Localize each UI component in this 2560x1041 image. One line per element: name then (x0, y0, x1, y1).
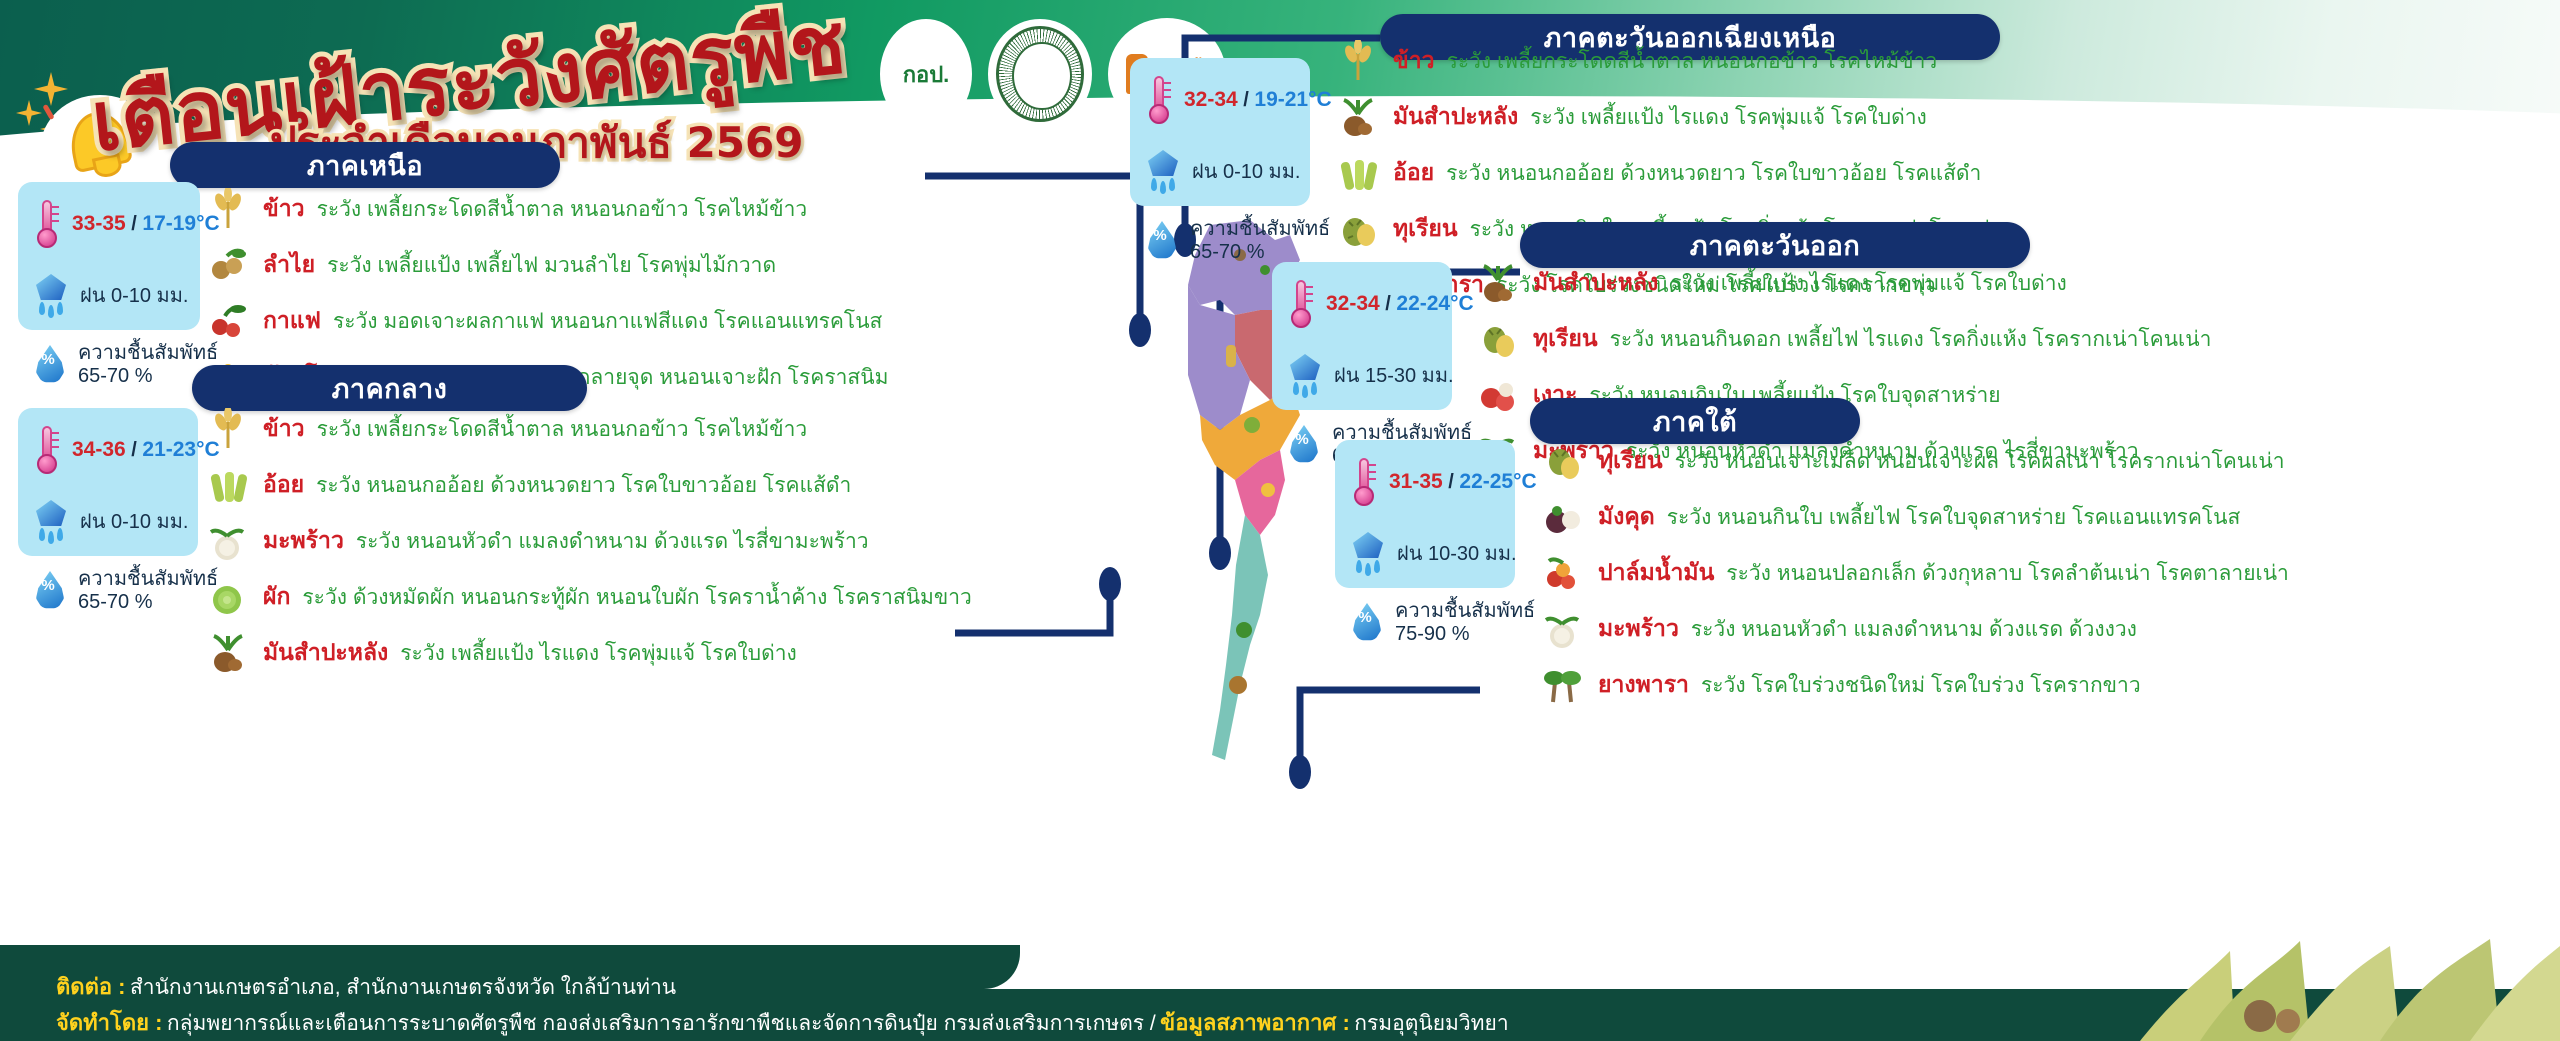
crop-row: มันสำปะหลัง ระวัง เพลี้ยแป้ง ไรแดง โรคพุ… (1335, 96, 2003, 138)
footer-producer-key: จัดทำโดย : (56, 1010, 162, 1035)
rain-cloud-icon (34, 272, 68, 320)
royal-seal-icon (996, 26, 1084, 122)
humidity-drop-icon: % (1146, 219, 1178, 263)
sugarcane-icon (205, 464, 251, 506)
rain-cloud-icon (1351, 530, 1385, 578)
humidity-row-northeast: % ความชื้นสัมพัทธ์ 65-70 % (1146, 218, 1292, 264)
humidity-value-south: 75-90 % (1395, 623, 1470, 645)
thermometer-icon (1351, 456, 1377, 508)
crop-row: มันสำปะหลัง ระวัง เพลี้ยแป้ง ไรแดง โรคพุ… (205, 632, 972, 674)
crop-row: ลำไย ระวัง เพลี้ยแป้ง เพลี้ยไฟ มวนลำไย โ… (205, 244, 888, 286)
temp-separator: / (1385, 293, 1391, 315)
crop-row: อ้อย ระวัง หนอนกออ้อย ด้วงหนวดยาว โรคใบข… (1335, 152, 2003, 194)
cassava-icon (1335, 96, 1381, 138)
rain-cloud-icon (1288, 352, 1322, 400)
crop-name: ยางพารา (1598, 667, 1689, 703)
crop-name: มันสำปะหลัง (263, 635, 388, 671)
kop-logo: กอป. (880, 19, 972, 129)
rice-icon (205, 188, 251, 230)
crop-row: ผัก ระวัง ด้วงหมัดผัก หนอนกระทู้ผัก หนอน… (205, 576, 972, 618)
crop-row: ปาล์มน้ำมัน ระวัง หนอนปลอกเล็ก ด้วงกุหลา… (1540, 552, 2289, 594)
humidity-label-south: ความชื้นสัมพัทธ์ (1395, 600, 1535, 622)
footer-contact-line: ติดต่อ : สำนักงานเกษตรอำเภอ, สำนักงานเกษ… (56, 969, 676, 1004)
thermometer-icon (34, 424, 60, 476)
crop-warning: ระวัง เพลี้ยแป้ง ไรแดง โรคพุ่มแจ้ โรคใบด… (400, 637, 797, 670)
crop-warning: ระวัง หนอนกออ้อย ด้วงหนวดยาว โรคใบขาวอ้อ… (1446, 157, 1981, 190)
humidity-label-northeast: ความชื้นสัมพัทธ์ (1190, 218, 1330, 240)
crop-name: ปาล์มน้ำมัน (1598, 555, 1714, 591)
crop-warning: ระวัง เพลี้ยแป้ง เพลี้ยไฟ มวนลำไย โรคพุ่… (327, 249, 776, 282)
temp-separator: / (131, 439, 137, 461)
rambutan-icon (1475, 374, 1521, 416)
oilpalm-icon (1540, 552, 1586, 594)
crop-warning: ระวัง หนอนหัวดำ แมลงดำหนาม ด้วงแรด ไรสี่… (356, 525, 869, 558)
crop-name: ทุเรียน (1533, 321, 1598, 357)
crop-warning: ระวัง เพลี้ยกระโดดสีน้ำตาล หนอนกอข้าว โร… (317, 193, 808, 226)
temperature-text-south: 31-35 / 22-25°C (1389, 470, 1537, 494)
footer-producer-line: จัดทำโดย : กลุ่มพยากรณ์และเตือนการระบาดศ… (56, 1005, 1509, 1040)
region-header-north: ภาคเหนือ (170, 142, 560, 188)
weather-card-east: 32-34 / 22-24°C ฝน 15-30 มม. % ความชื้นส… (1272, 262, 1452, 410)
sparkle-icon (16, 100, 42, 126)
rice-icon (205, 408, 251, 450)
footer-contact-key: ติดต่อ : (56, 974, 126, 999)
thermometer-icon (1288, 278, 1314, 330)
crop-row: มันสำปะหลัง ระวัง เพลี้ยแป้ง ไรแดง โรคพุ… (1475, 262, 2211, 304)
crop-name: อ้อย (1393, 155, 1434, 191)
humidity-label-central: ความชื้นสัมพัทธ์ (78, 568, 218, 590)
crop-name: ทุเรียน (1598, 443, 1663, 479)
temp-high-east: 32-34 (1326, 292, 1380, 315)
rain-text-north: ฝน 0-10 มม. (80, 285, 188, 308)
temp-low-northeast: 19-21°C (1254, 88, 1331, 111)
temperature-text-central: 34-36 / 21-23°C (72, 438, 220, 462)
cassava-icon (1475, 262, 1521, 304)
crop-row: ทุเรียน ระวัง หนอนกินดอก เพลี้ยไฟ ไรแดง … (1475, 318, 2211, 360)
royal-seal-logo (988, 19, 1092, 129)
temperature-row-south: 31-35 / 22-25°C (1351, 456, 1497, 508)
crop-warning: ระวัง มอดเจาะผลกาแฟ หนอนกาแฟสีแดง โรคแอน… (333, 305, 882, 338)
crop-warning: ระวัง หนอนปลอกเล็ก ด้วงกุหลาบ โรคลำต้นเน… (1726, 557, 2289, 590)
temperature-row-north: 33-35 / 17-19°C (34, 198, 182, 250)
rain-row-northeast: ฝน 0-10 มม. (1146, 148, 1292, 196)
humidity-drop-icon: % (34, 343, 66, 387)
temp-low-east: 22-24°C (1396, 292, 1473, 315)
region-title-central: ภาคกลาง (332, 367, 448, 410)
temp-separator: / (1243, 89, 1249, 111)
humidity-value-northeast: 65-70 % (1190, 241, 1265, 263)
crop-warning: ระวัง หนอนเจาะเมล็ด หนอนเจาะผล โรคผลเน่า… (1675, 445, 2285, 478)
humidity-percent-glyph: % (34, 577, 62, 594)
crop-name: มันสำปะหลัง (1393, 99, 1518, 135)
crop-list-south: ทุเรียน ระวัง หนอนเจาะเมล็ด หนอนเจาะผล โ… (1540, 440, 2289, 706)
rain-cloud-icon (1146, 148, 1180, 196)
crop-row: อ้อย ระวัง หนอนกออ้อย ด้วงหนวดยาว โรคใบข… (205, 464, 972, 506)
crop-warning: ระวัง เพลี้ยแป้ง ไรแดง โรคพุ่มแจ้ โรคใบด… (1530, 101, 1927, 134)
humidity-text-northeast: ความชื้นสัมพัทธ์ 65-70 % (1190, 218, 1330, 264)
crop-row: ข้าว ระวัง เพลี้ยกระโดดสีน้ำตาล หนอนกอข้… (1335, 40, 2003, 82)
crop-warning: ระวัง เพลี้ยกระโดดสีน้ำตาล หนอนกอข้าว โร… (1447, 45, 1938, 78)
crop-name: กาแฟ (263, 303, 321, 339)
crop-name: มันสำปะหลัง (1533, 265, 1658, 301)
crop-warning: ระวัง หนอนกออ้อย ด้วงหนวดยาว โรคใบขาวอ้อ… (316, 469, 851, 502)
crop-warning: ระวัง โรคใบร่วงชนิดใหม่ โรคใบร่วง โรคราก… (1701, 669, 2141, 702)
coconut-icon (1540, 608, 1586, 650)
crop-name: ผัก (263, 579, 290, 615)
humidity-drop-icon: % (1351, 601, 1383, 645)
temperature-row-central: 34-36 / 21-23°C (34, 424, 180, 476)
region-header-south: ภาคใต้ (1530, 398, 1860, 444)
cassava-icon (205, 632, 251, 674)
humidity-text-south: ความชื้นสัมพัทธ์ 75-90 % (1395, 600, 1535, 646)
crop-warning: ระวัง เพลี้ยกระโดดสีน้ำตาล หนอนกอข้าว โร… (317, 413, 808, 446)
thermometer-icon (34, 198, 60, 250)
footer-weather-value: กรมอุตุนิยมวิทยา (1354, 1012, 1508, 1035)
coconut-icon (205, 520, 251, 562)
temp-separator: / (131, 213, 137, 235)
rain-text-east: ฝน 15-30 มม. (1334, 365, 1454, 388)
durian-icon (1335, 208, 1381, 250)
crop-name: ข้าว (263, 191, 305, 227)
vegetable-icon (205, 576, 251, 618)
region-title-east: ภาคตะวันออก (1690, 224, 1860, 267)
crop-name: อ้อย (263, 467, 304, 503)
crop-row: มะพร้าว ระวัง หนอนหัวดำ แมลงดำหนาม ด้วงแ… (205, 520, 972, 562)
rain-text-central: ฝน 0-10 มม. (80, 511, 188, 534)
humidity-row-north: % ความชื้นสัมพัทธ์ 65-70 % (34, 342, 182, 388)
infographic-root: เตือนเฝ้าระวังศัตรูพืช ประจำเดือนกุมภาพั… (0, 0, 2560, 1041)
rain-row-east: ฝน 15-30 มม. (1288, 352, 1434, 400)
crop-name: ทุเรียน (1393, 211, 1458, 247)
region-title-south: ภาคใต้ (1653, 400, 1737, 443)
crop-name: มะพร้าว (263, 523, 344, 559)
crop-warning: ระวัง ด้วงหมัดผัก หนอนกระทู้ผัก หนอนใบผั… (302, 581, 971, 614)
temperature-row-east: 32-34 / 22-24°C (1288, 278, 1434, 330)
crop-row: ข้าว ระวัง เพลี้ยกระโดดสีน้ำตาล หนอนกอข้… (205, 188, 888, 230)
weather-card-south: 31-35 / 22-25°C ฝน 10-30 มม. % ความชื้นส… (1335, 440, 1515, 588)
humidity-drop-icon: % (34, 569, 66, 613)
rain-text-northeast: ฝน 0-10 มม. (1192, 161, 1300, 184)
temp-high-northeast: 32-34 (1184, 88, 1238, 111)
crop-row: มังคุด ระวัง หนอนกินใบ เพลี้ยไฟ โรคใบจุด… (1540, 496, 2289, 538)
temp-high-south: 31-35 (1389, 470, 1443, 493)
rice-icon (1335, 40, 1381, 82)
crop-row: ยางพารา ระวัง โรคใบร่วงชนิดใหม่ โรคใบร่ว… (1540, 664, 2289, 706)
footer-producer-value: กลุ่มพยากรณ์และเตือนการระบาดศัตรูพืช กอง… (167, 1012, 1156, 1035)
longan-icon (205, 244, 251, 286)
weather-card-north: 33-35 / 17-19°C ฝน 0-10 มม. % ความชื้นสั… (18, 182, 200, 330)
crop-name: ลำไย (263, 247, 315, 283)
durian-icon (1540, 440, 1586, 482)
temperature-text-northeast: 32-34 / 19-21°C (1184, 88, 1332, 112)
sparkle-icon (34, 72, 68, 106)
region-header-central: ภาคกลาง (192, 365, 587, 411)
crop-warning: ระวัง หนอนหัวดำ แมลงดำหนาม ด้วงแรด ด้วงง… (1691, 613, 2137, 646)
sugarcane-icon (1335, 152, 1381, 194)
mangosteen-icon (1540, 496, 1586, 538)
rubber-icon (1540, 664, 1586, 706)
crop-name: ข้าว (263, 411, 305, 447)
temp-low-south: 22-25°C (1459, 470, 1536, 493)
coffee-icon (205, 300, 251, 342)
kop-logo-label: กอป. (903, 57, 950, 92)
temperature-text-east: 32-34 / 22-24°C (1326, 292, 1474, 316)
crop-row: ทุเรียน ระวัง หนอนเจาะเมล็ด หนอนเจาะผล โ… (1540, 440, 2289, 482)
rain-row-central: ฝน 0-10 มม. (34, 498, 180, 546)
crop-row: ข้าว ระวัง เพลี้ยกระโดดสีน้ำตาล หนอนกอข้… (205, 408, 972, 450)
temperature-text-north: 33-35 / 17-19°C (72, 212, 220, 236)
crop-name: ข้าว (1393, 43, 1435, 79)
humidity-percent-glyph: % (1288, 431, 1316, 448)
crop-warning: ระวัง หนอนกินใบ เพลี้ยไฟ โรคใบจุดสาหร่าย… (1667, 501, 2241, 534)
rain-row-south: ฝน 10-30 มม. (1351, 530, 1497, 578)
crop-warning: ระวัง หนอนกินดอก เพลี้ยไฟ ไรแดง โรคกิ่งแ… (1610, 323, 2212, 356)
rain-text-south: ฝน 10-30 มม. (1397, 543, 1517, 566)
region-title-north: ภาคเหนือ (307, 144, 423, 187)
rain-cloud-icon (34, 498, 68, 546)
temp-high-north: 33-35 (72, 212, 126, 235)
crop-warning: ระวัง เพลี้ยแป้ง ไรแดง โรคพุ่มแจ้ โรคใบด… (1670, 267, 2067, 300)
thermometer-icon (1146, 74, 1172, 126)
footer-contact-value: สำนักงานเกษตรอำเภอ, สำนักงานเกษตรจังหวัด… (130, 976, 676, 999)
crop-row: มะพร้าว ระวัง หนอนหัวดำ แมลงดำหนาม ด้วงแ… (1540, 608, 2289, 650)
weather-card-central: 34-36 / 21-23°C ฝน 0-10 มม. % ความชื้นสั… (18, 408, 198, 556)
footer-bar: ติดต่อ : สำนักงานเกษตรอำเภอ, สำนักงานเกษ… (0, 945, 2560, 1041)
humidity-row-south: % ความชื้นสัมพัทธ์ 75-90 % (1351, 600, 1497, 646)
humidity-row-central: % ความชื้นสัมพัทธ์ 65-70 % (34, 568, 180, 614)
rain-row-north: ฝน 0-10 มม. (34, 272, 182, 320)
humidity-drop-icon: % (1288, 423, 1320, 467)
humidity-label-north: ความชื้นสัมพัทธ์ (78, 342, 218, 364)
weather-card-northeast: 32-34 / 19-21°C ฝน 0-10 มม. % ความชื้นสั… (1130, 58, 1310, 206)
footer-weather-key: ข้อมูลสภาพอากาศ : (1160, 1010, 1350, 1035)
crop-row: กาแฟ ระวัง มอดเจาะผลกาแฟ หนอนกาแฟสีแดง โ… (205, 300, 888, 342)
humidity-value-north: 65-70 % (78, 365, 153, 387)
humidity-percent-glyph: % (1146, 227, 1174, 244)
humidity-text-central: ความชื้นสัมพัทธ์ 65-70 % (78, 568, 218, 614)
crop-list-central: ข้าว ระวัง เพลี้ยกระโดดสีน้ำตาล หนอนกอข้… (205, 408, 972, 674)
temp-high-central: 34-36 (72, 438, 126, 461)
crop-name: มังคุด (1598, 499, 1655, 535)
crop-name: มะพร้าว (1598, 611, 1679, 647)
durian-icon (1475, 318, 1521, 360)
grass-decor-right (2140, 921, 2560, 1041)
temperature-row-northeast: 32-34 / 19-21°C (1146, 74, 1292, 126)
humidity-percent-glyph: % (34, 351, 62, 368)
humidity-percent-glyph: % (1351, 609, 1379, 626)
humidity-value-central: 65-70 % (78, 591, 153, 613)
temp-separator: / (1448, 471, 1454, 493)
